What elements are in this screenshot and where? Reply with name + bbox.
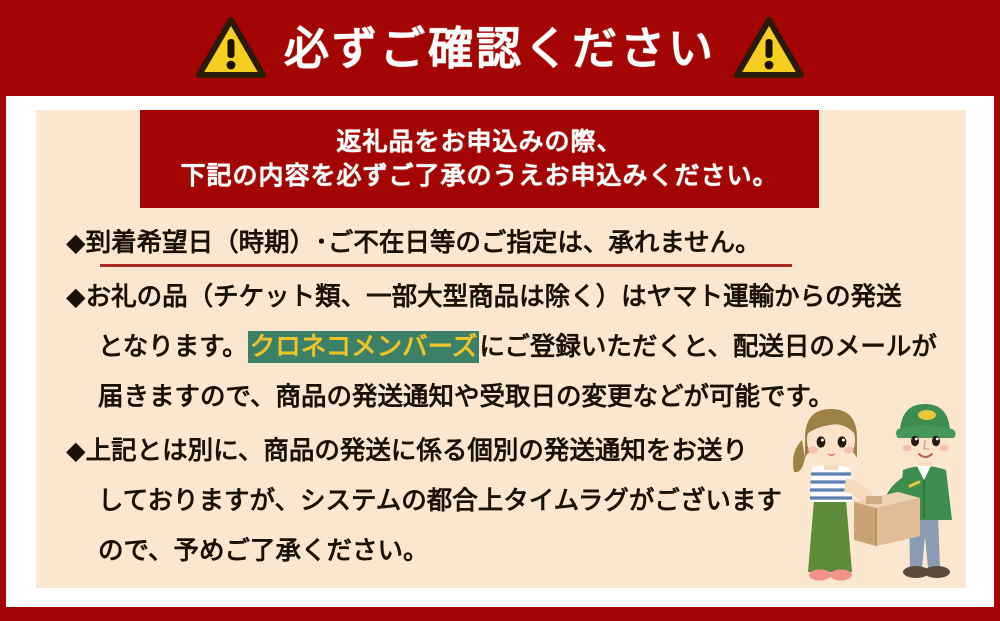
notice-3-text-2: しておりますが、システムの都合上タイムラグがございます bbox=[98, 486, 782, 516]
kuroneko-members-highlight: クロネコメンバーズ bbox=[248, 331, 480, 363]
notice-item-1: ◆到着希望日（時期）･ご不在日等のご指定は、承れません。 bbox=[66, 218, 906, 268]
notice-2-line-2: となります。クロネコメンバーズにご登録いただくと、配送日のメールが bbox=[66, 322, 906, 372]
frame-border-bottom bbox=[0, 607, 1000, 621]
notice-banner: 必ずご確認ください 返礼品をお申込みの際、 下記の内容を必ずご了承のうえお申込み… bbox=[0, 0, 1000, 621]
subtitle-line-2: 下記の内容を必ずご了承のうえお申込みください。 bbox=[180, 159, 778, 193]
bullet-marker: ◆ bbox=[66, 228, 86, 258]
bullet-marker: ◆ bbox=[66, 282, 86, 312]
subtitle-box: 返礼品をお申込みの際、 下記の内容を必ずご了承のうえお申込みください。 bbox=[140, 110, 819, 208]
notice-2-line-1: ◆お礼の品（チケット類、一部大型商品は除く）はヤマト運輸からの発送 bbox=[66, 272, 906, 322]
notice-2-text-3: にご登録いただくと、配送日のメールが bbox=[479, 332, 936, 362]
header-band: 必ずご確認ください bbox=[0, 0, 1000, 96]
notice-2-text-1: お礼の品（チケット類、一部大型商品は除く）はヤマト運輸からの発送 bbox=[86, 282, 902, 312]
notice-1-line-1: ◆到着希望日（時期）･ご不在日等のご指定は、承れません。 bbox=[66, 218, 906, 268]
subtitle-line-1: 返礼品をお申込みの際、 bbox=[336, 125, 622, 159]
notice-1-underline bbox=[100, 264, 792, 267]
bullet-marker: ◆ bbox=[66, 436, 86, 466]
delivery-handoff-illustration bbox=[772, 396, 972, 588]
page-title: 必ずご確認ください bbox=[284, 26, 716, 71]
warning-triangle-icon bbox=[734, 17, 804, 79]
notice-3-text-1: 上記とは別に、商品の発送に係る個別の発送通知をお送り bbox=[86, 436, 748, 466]
notice-1-text: 到着希望日（時期）･ご不在日等のご指定は、承れません。 bbox=[86, 228, 761, 258]
notice-2-text-2: となります。 bbox=[98, 332, 248, 362]
warning-triangle-icon bbox=[196, 17, 266, 79]
notice-2-text-4: 届きますので、商品の発送通知や受取日の変更などが可能です。 bbox=[98, 382, 834, 412]
notice-3-text-3: ので、予めご了承ください。 bbox=[98, 536, 428, 566]
